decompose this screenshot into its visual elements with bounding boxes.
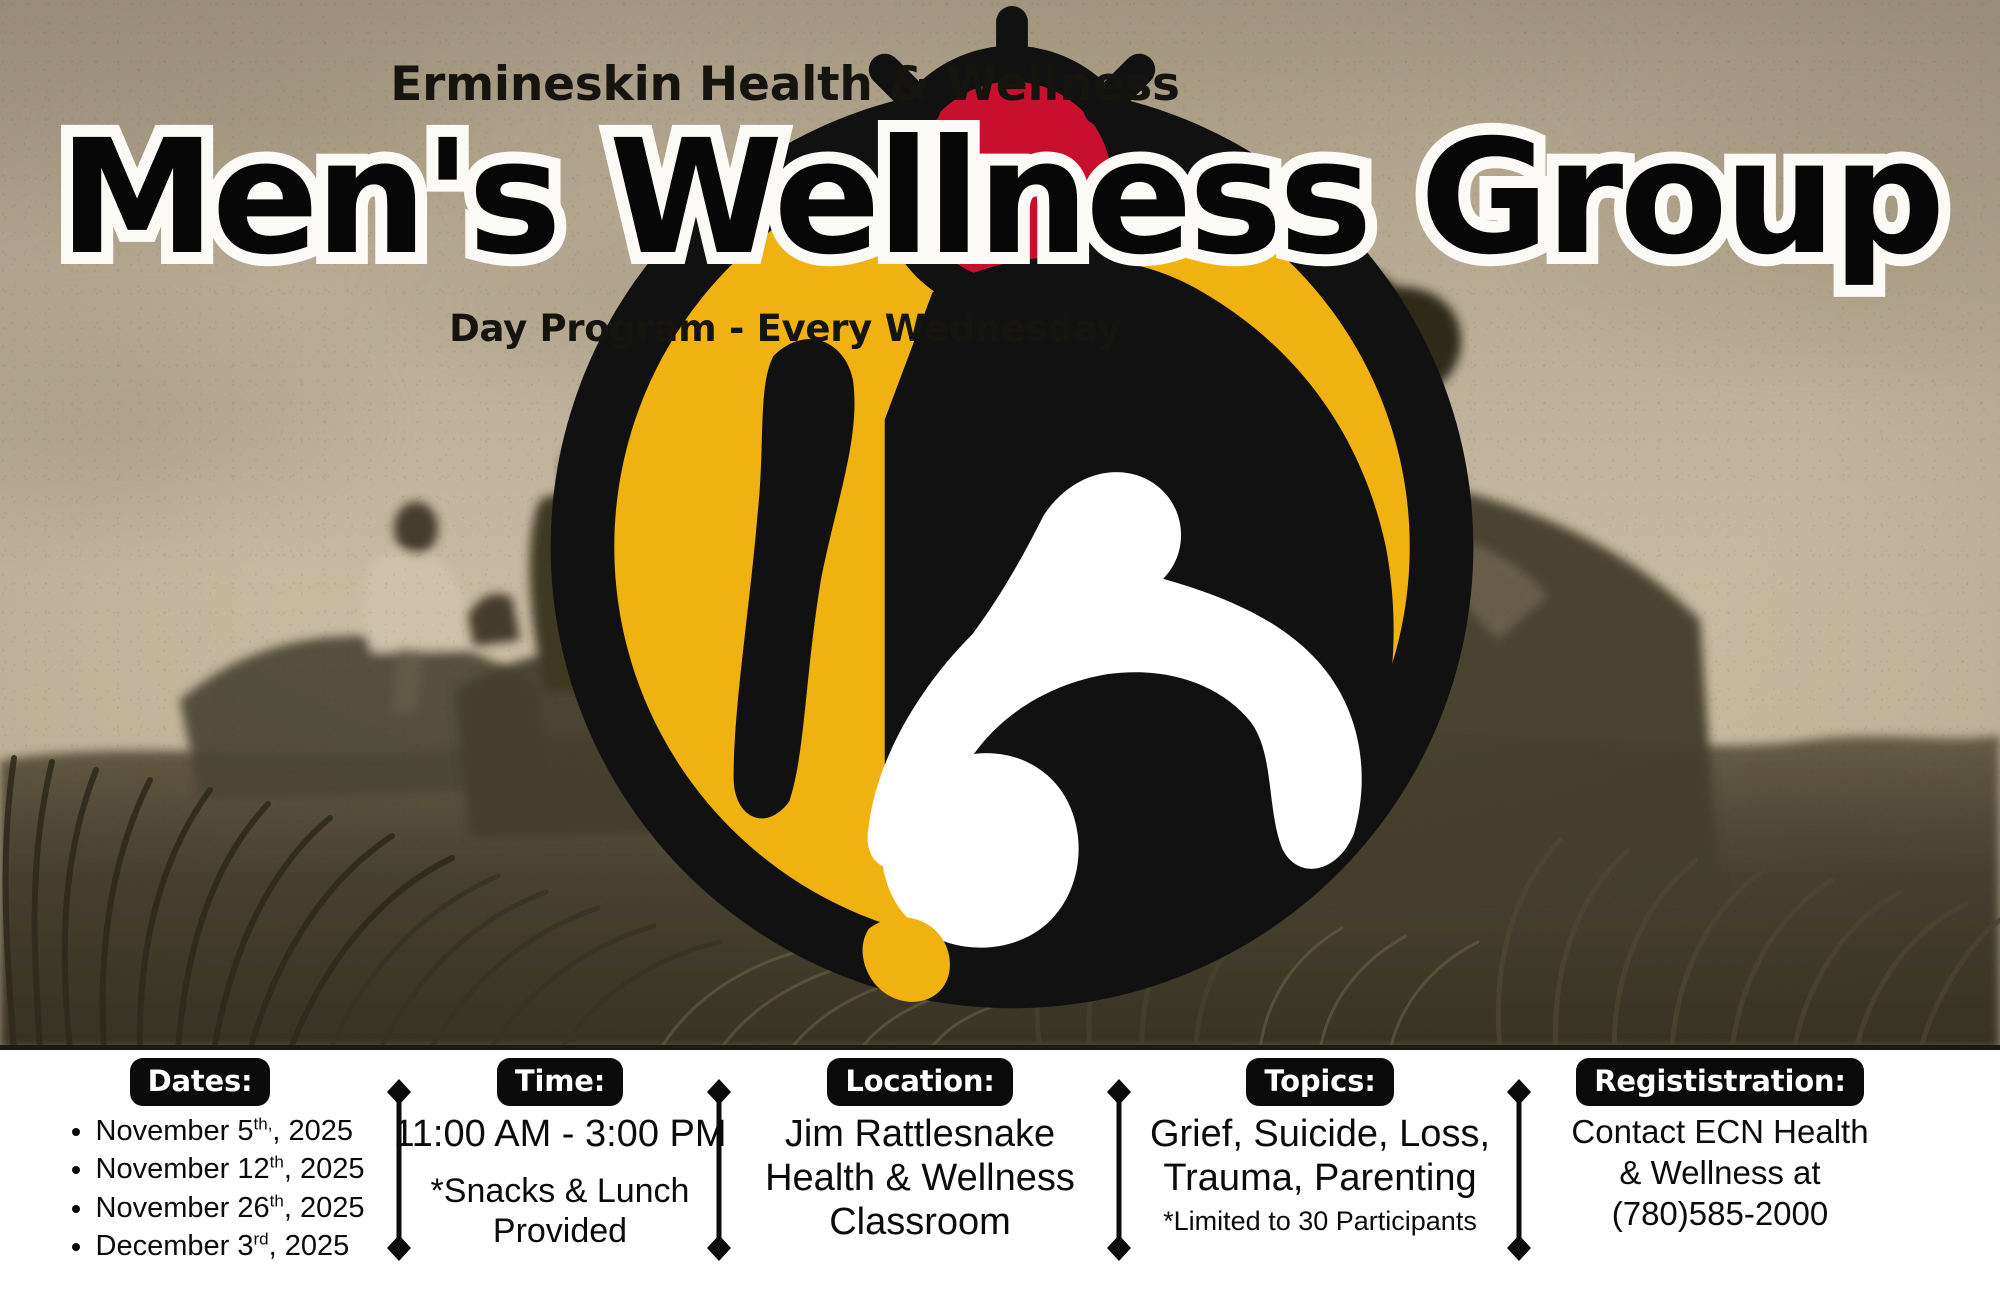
time-note-line1: *Snacks & Lunch: [393, 1172, 726, 1211]
list-item: November 26th, 2025: [70, 1189, 365, 1227]
details-bar: Dates: November 5th,, 2025 November 12th…: [0, 1050, 2000, 1294]
diamond-divider-icon: [1102, 1078, 1136, 1262]
list-item: November 12th, 2025: [70, 1150, 365, 1188]
date-year: , 2025: [284, 1153, 365, 1185]
date-ordinal: th: [270, 1191, 284, 1210]
date-year: , 2025: [269, 1230, 350, 1262]
date-day: 26: [237, 1192, 269, 1224]
location-label: Location:: [827, 1058, 1012, 1106]
details-column-topics: Topics: Grief, Suicide, Loss, Trauma, Pa…: [1120, 1050, 1520, 1237]
dates-list: November 5th,, 2025 November 12th, 2025 …: [36, 1112, 365, 1265]
location-line3: Classroom: [765, 1200, 1075, 1244]
date-day: 5: [237, 1115, 253, 1147]
program-subtitle: Day Program - Every Wednesday: [0, 307, 1570, 350]
topics-label: Topics:: [1246, 1058, 1393, 1106]
registration-line2: & Wellness at: [1571, 1153, 1868, 1194]
page-title: Men's Wellness Group: [0, 118, 2000, 279]
registration-phone: (780)585-2000: [1571, 1194, 1868, 1235]
topics-body: Grief, Suicide, Loss, Trauma, Parenting …: [1150, 1112, 1490, 1237]
details-column-dates: Dates: November 5th,, 2025 November 12th…: [0, 1050, 400, 1265]
dates-label: Dates:: [130, 1058, 271, 1106]
details-column-time: Time: 11:00 AM - 3:00 PM *Snacks & Lunch…: [400, 1050, 720, 1251]
registration-body: Contact ECN Health & Wellness at (780)58…: [1571, 1112, 1868, 1235]
date-month: December: [96, 1230, 230, 1262]
date-ordinal: th,: [254, 1114, 273, 1133]
diamond-divider-icon: [382, 1078, 416, 1262]
details-column-registration: Regististration: Contact ECN Health & We…: [1520, 1050, 1920, 1235]
time-value: 11:00 AM - 3:00 PM: [393, 1112, 726, 1156]
time-body: 11:00 AM - 3:00 PM *Snacks & Lunch Provi…: [393, 1112, 726, 1251]
date-ordinal: th: [270, 1153, 284, 1172]
registration-line1: Contact ECN Health: [1571, 1112, 1868, 1153]
date-month: November: [96, 1192, 230, 1224]
topics-line2: Trauma, Parenting: [1150, 1156, 1490, 1200]
date-year: , 2025: [272, 1115, 353, 1147]
column-divider: [1502, 1078, 1536, 1262]
organization-name: Ermineskin Health & Wellness: [0, 57, 1570, 112]
poster-root: Ermineskin Health & Wellness Men's Welln…: [0, 0, 2000, 1294]
details-column-location: Location: Jim Rattlesnake Health & Welln…: [720, 1050, 1120, 1244]
topics-line1: Grief, Suicide, Loss,: [1150, 1112, 1490, 1156]
date-day: 12: [237, 1153, 269, 1185]
column-divider: [1102, 1078, 1136, 1262]
date-year: , 2025: [284, 1192, 365, 1224]
diamond-divider-icon: [1502, 1078, 1536, 1262]
column-divider: [382, 1078, 416, 1262]
list-item: November 5th,, 2025: [70, 1112, 365, 1150]
location-body: Jim Rattlesnake Health & Wellness Classr…: [765, 1112, 1075, 1244]
registration-label: Regististration:: [1576, 1058, 1864, 1106]
background-photo: Ermineskin Health & Wellness Men's Welln…: [0, 0, 2000, 1050]
location-line1: Jim Rattlesnake: [765, 1112, 1075, 1156]
date-day: 3: [237, 1230, 253, 1262]
date-month: November: [96, 1115, 230, 1147]
topics-note: *Limited to 30 Participants: [1150, 1206, 1490, 1237]
date-ordinal: rd: [254, 1229, 269, 1248]
column-divider: [702, 1078, 736, 1262]
list-item: December 3rd, 2025: [70, 1227, 365, 1265]
diamond-divider-icon: [702, 1078, 736, 1262]
time-note-line2: Provided: [393, 1212, 726, 1251]
time-note: *Snacks & Lunch Provided: [393, 1172, 726, 1251]
location-line2: Health & Wellness: [765, 1156, 1075, 1200]
date-month: November: [96, 1153, 230, 1185]
time-label: Time:: [497, 1058, 623, 1106]
